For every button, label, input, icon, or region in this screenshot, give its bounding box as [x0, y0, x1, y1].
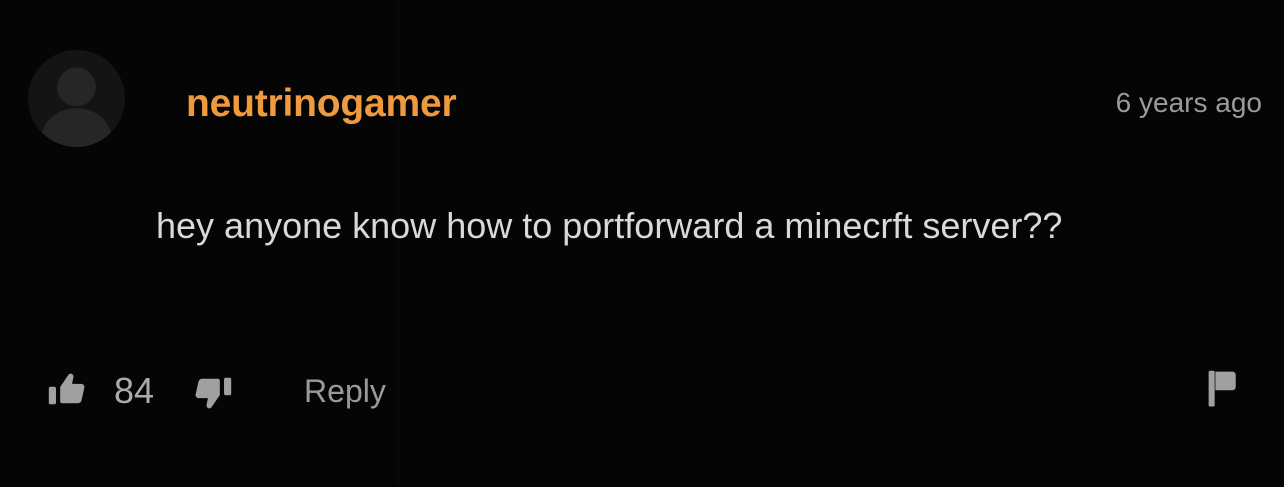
comment-author-link[interactable]: neutrinogamer: [186, 76, 456, 132]
like-button[interactable]: [46, 362, 88, 420]
dislike-button[interactable]: [192, 362, 234, 420]
like-count: 84: [114, 362, 154, 420]
reply-button[interactable]: Reply: [304, 362, 386, 420]
default-user-avatar-icon: [28, 50, 125, 147]
thumbs-up-icon: [46, 370, 88, 412]
comment-thread: neutrinogamer 6 years ago hey anyone kno…: [0, 0, 1284, 487]
thumbs-down-icon: [192, 370, 234, 412]
comment-body-text: hey anyone know how to portforward a min…: [156, 193, 1156, 259]
comment-timestamp[interactable]: 6 years ago: [1116, 78, 1262, 128]
avatar[interactable]: [28, 50, 125, 147]
comment-header: neutrinogamer 6 years ago: [186, 76, 1262, 132]
flag-icon: [1200, 366, 1244, 410]
report-button[interactable]: [1200, 366, 1244, 410]
comment-action-bar: 84 Reply: [46, 362, 386, 420]
